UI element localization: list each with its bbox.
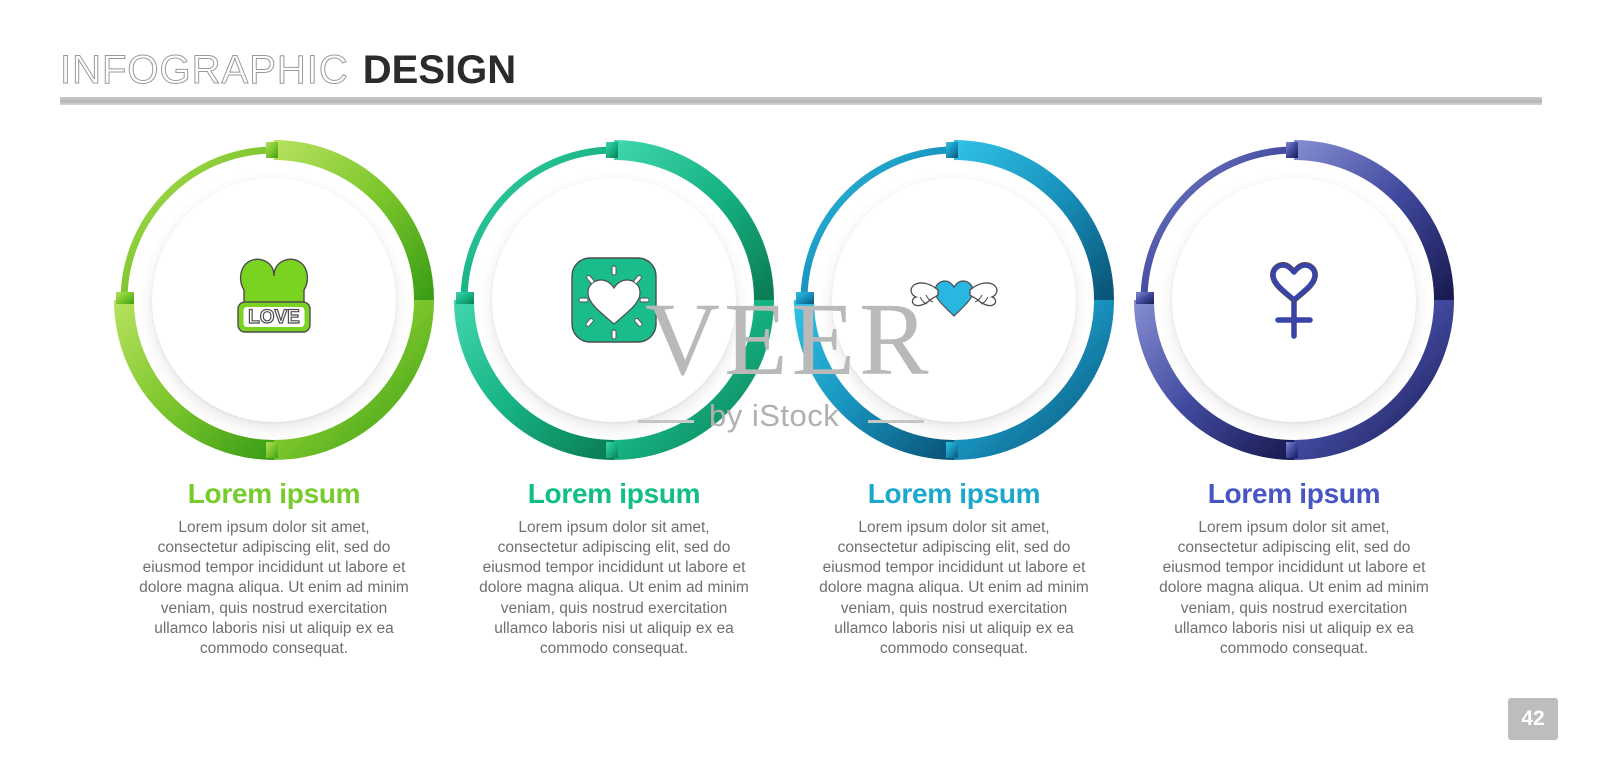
step-body-3: Lorem ipsum dolor sit amet, consectetur … (818, 518, 1090, 659)
female-venus-heart-symbol-icon (1234, 240, 1354, 360)
icon-container-1: LOVE (152, 178, 396, 422)
steps-row: LOVE Lorem ipsum Lorem ipsum dolor sit a… (0, 140, 1600, 659)
winged-heart-icon (894, 240, 1014, 360)
step-ring-1[interactable]: LOVE (114, 140, 434, 460)
step-column-1: LOVE Lorem ipsum Lorem ipsum dolor sit a… (104, 140, 444, 659)
step-ring-3[interactable] (794, 140, 1114, 460)
step-ring-2[interactable] (454, 140, 774, 460)
infographic-canvas: Infographic Design (0, 0, 1600, 762)
header-divider (60, 97, 1542, 105)
icon-container-4 (1172, 178, 1416, 422)
icon-label-1: LOVE (248, 307, 300, 328)
step-column-2: Lorem ipsum Lorem ipsum dolor sit amet, … (444, 140, 784, 659)
step-heading-1: Lorem ipsum (104, 478, 444, 510)
step-ring-4[interactable] (1134, 140, 1454, 460)
step-column-4: Lorem ipsum Lorem ipsum dolor sit amet, … (1124, 140, 1464, 659)
step-heading-4: Lorem ipsum (1124, 478, 1464, 510)
step-body-1: Lorem ipsum dolor sit amet, consectetur … (138, 518, 410, 659)
page-header: Infographic Design (60, 48, 516, 93)
step-body-2: Lorem ipsum dolor sit amet, consectetur … (478, 518, 750, 659)
heart-love-label-icon: LOVE (214, 240, 334, 360)
page-number-badge: 42 (1508, 698, 1558, 740)
heart-app-square-icon (554, 240, 674, 360)
step-body-4: Lorem ipsum dolor sit amet, consectetur … (1158, 518, 1430, 659)
step-heading-2: Lorem ipsum (444, 478, 784, 510)
step-heading-3: Lorem ipsum (784, 478, 1124, 510)
step-column-3: Lorem ipsum Lorem ipsum dolor sit amet, … (784, 140, 1124, 659)
icon-container-3 (832, 178, 1076, 422)
page-title-bold: Design (363, 48, 516, 93)
icon-container-2 (492, 178, 736, 422)
page-title-thin: Infographic (60, 48, 349, 93)
